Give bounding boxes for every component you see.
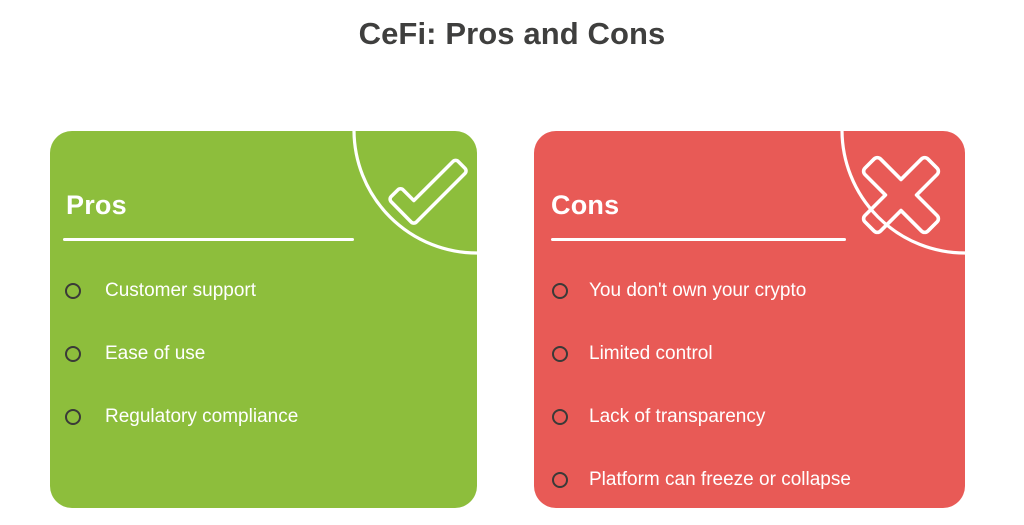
pros-divider bbox=[63, 238, 354, 241]
list-item-label: Lack of transparency bbox=[589, 407, 765, 426]
cons-corner-decoration bbox=[837, 131, 965, 259]
bullet-ring-icon bbox=[552, 409, 568, 425]
list-item: Limited control bbox=[534, 322, 965, 385]
quarter-arc-icon bbox=[354, 131, 477, 253]
bullet-ring-icon bbox=[552, 472, 568, 488]
list-item-label: Regulatory compliance bbox=[105, 407, 298, 426]
cons-heading: Cons bbox=[551, 190, 619, 221]
list-item: Customer support bbox=[50, 259, 477, 322]
pros-corner-decoration bbox=[349, 131, 477, 259]
list-item: You don't own your crypto bbox=[534, 259, 965, 322]
pros-card: Pros Customer support Ease of use Regula… bbox=[50, 131, 477, 508]
check-icon bbox=[390, 160, 466, 223]
cons-card: Cons You don't own your crypto Limited c… bbox=[534, 131, 965, 508]
cons-divider bbox=[551, 238, 846, 241]
bullet-ring-icon bbox=[552, 346, 568, 362]
list-item-label: You don't own your crypto bbox=[589, 281, 806, 300]
list-item-label: Limited control bbox=[589, 344, 713, 363]
pros-heading: Pros bbox=[66, 190, 127, 221]
page-title: CeFi: Pros and Cons bbox=[0, 16, 1024, 52]
pros-list: Customer support Ease of use Regulatory … bbox=[50, 259, 477, 448]
list-item-label: Ease of use bbox=[105, 344, 205, 363]
list-item: Ease of use bbox=[50, 322, 477, 385]
quarter-arc-icon bbox=[842, 131, 965, 253]
list-item-label: Platform can freeze or collapse bbox=[589, 470, 851, 489]
bullet-ring-icon bbox=[65, 346, 81, 362]
list-item: Platform can freeze or collapse bbox=[534, 448, 965, 508]
cons-list: You don't own your crypto Limited contro… bbox=[534, 259, 965, 508]
list-item: Lack of transparency bbox=[534, 385, 965, 448]
bullet-ring-icon bbox=[552, 283, 568, 299]
list-item: Regulatory compliance bbox=[50, 385, 477, 448]
bullet-ring-icon bbox=[65, 409, 81, 425]
list-item-label: Customer support bbox=[105, 281, 256, 300]
cross-icon bbox=[838, 132, 964, 258]
bullet-ring-icon bbox=[65, 283, 81, 299]
